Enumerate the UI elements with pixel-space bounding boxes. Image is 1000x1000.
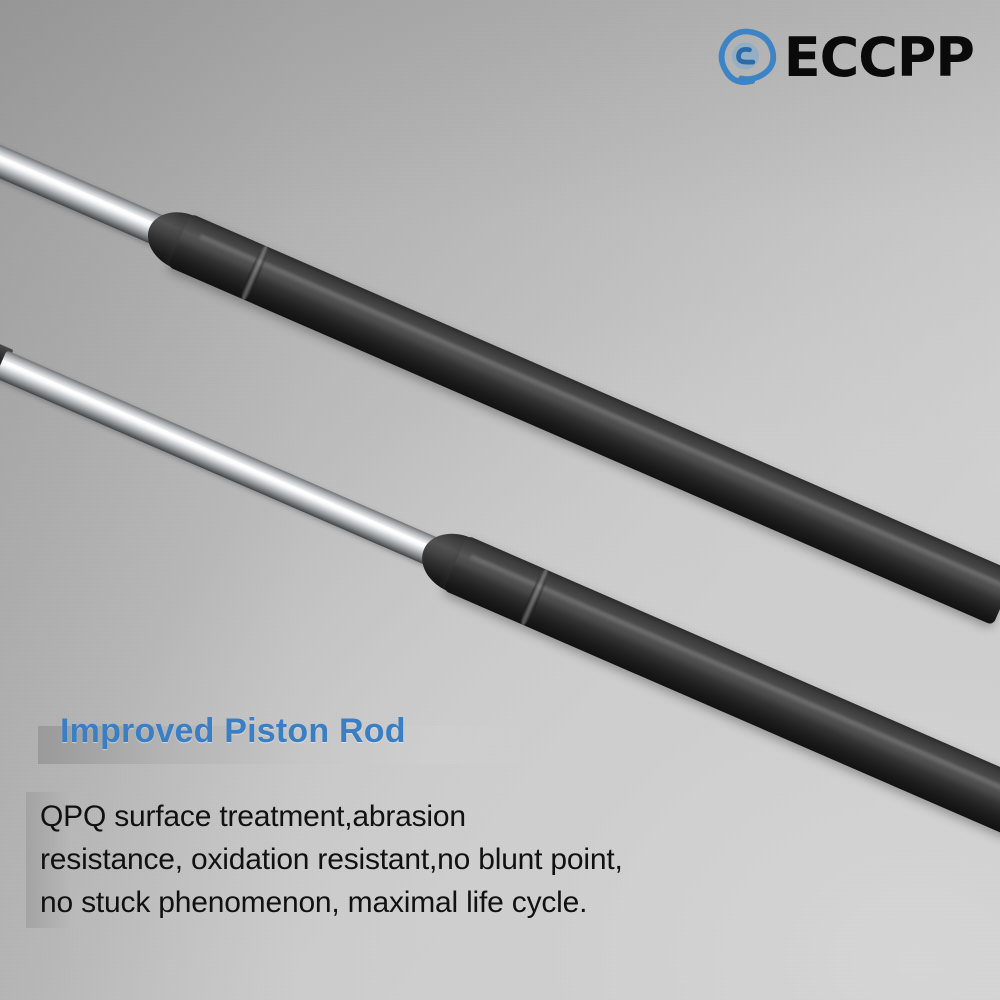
description-line-3: no stuck phenomenon, maximal life cycle.	[40, 881, 800, 924]
eccpp-hexagon-spiral-logo-icon	[710, 24, 778, 92]
brand-logo: ECCPP	[710, 24, 974, 92]
description-line-2: resistance, oxidation resistant,no blunt…	[40, 838, 800, 881]
heading-text: Improved Piston Rod	[60, 712, 406, 751]
feature-description: QPQ surface treatment,abrasion resistanc…	[40, 795, 800, 924]
feature-heading: Improved Piston Rod	[38, 712, 522, 764]
product-feature-image: ECCPP Improved Piston Rod QPQ surface tr…	[0, 0, 1000, 1000]
description-line-1: QPQ surface treatment,abrasion	[40, 795, 800, 838]
brand-wordmark: ECCPP	[784, 31, 974, 85]
